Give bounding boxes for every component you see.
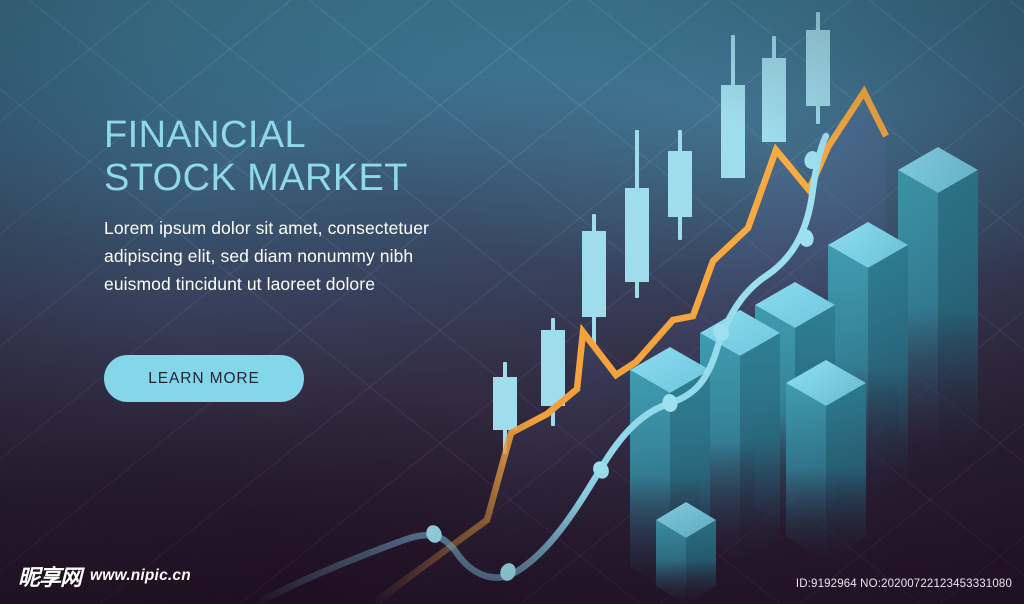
candlestick-8: [806, 12, 830, 124]
candlestick-4: [625, 130, 649, 298]
candlestick-3: [582, 214, 606, 346]
page-description: Lorem ipsum dolor sit amet, consectetuer…: [104, 214, 534, 298]
asset-id-code: ID:9192964 NO:20200722123453331080: [796, 578, 1012, 590]
bar-6: [898, 147, 978, 460]
learn-more-button[interactable]: LEARN MORE: [104, 355, 304, 402]
candlestick-7: [762, 36, 786, 142]
bar-3: [786, 360, 866, 560]
nipic-url: www.nipic.cn: [90, 567, 191, 585]
hero-banner: FINANCIAL STOCK MARKET Lorem ipsum dolor…: [0, 0, 1024, 604]
nipic-logo: 昵享网: [18, 560, 81, 592]
watermark: 昵享网 www.nipic.cn: [18, 560, 191, 592]
candlestick-6: [721, 35, 745, 178]
copy-block: FINANCIAL STOCK MARKET Lorem ipsum dolor…: [104, 114, 534, 298]
page-title: FINANCIAL STOCK MARKET: [104, 114, 534, 200]
stock-market-illustration: [0, 0, 1024, 604]
bar-1: [656, 502, 716, 604]
candlestick-5: [668, 130, 692, 240]
